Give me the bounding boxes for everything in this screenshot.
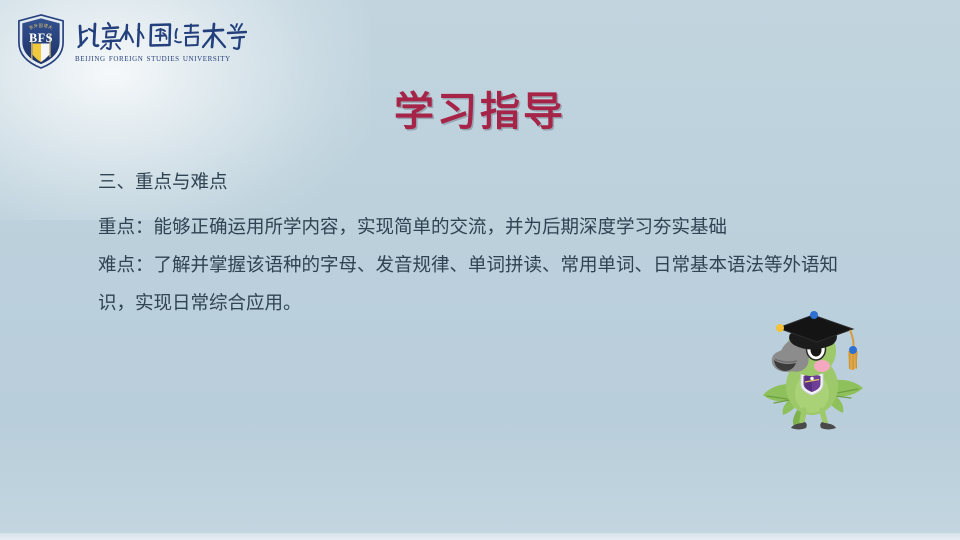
- background-bottom-band: [0, 533, 960, 540]
- slide-body-text: 三、重点与难点 重点：能够正确运用所学内容，实现简单的交流，并为后期深度学习夯实…: [98, 164, 868, 323]
- chinese-name-calligraphy: [75, 18, 247, 51]
- content-heading: 三、重点与难点: [98, 164, 868, 202]
- university-english-name: Beijing Foreign Studies University: [75, 53, 247, 64]
- graduate-parrot-mascot-icon: [752, 308, 874, 432]
- logo-wordmark-group: Beijing Foreign Studies University: [75, 18, 247, 64]
- slide-canvas: 北京外国语大学 BFS: [0, 0, 960, 540]
- university-logo: 北京外国语大学 BFS: [16, 10, 248, 72]
- bfs-shield-emblem-icon: 北京外国语大学 BFS: [16, 14, 66, 69]
- page-title: 学习指导: [0, 79, 960, 137]
- content-paragraph-key-points: 重点：能够正确运用所学内容，实现简单的交流，并为后期深度学习夯实基础: [98, 209, 868, 247]
- svg-text:BFS: BFS: [29, 30, 53, 44]
